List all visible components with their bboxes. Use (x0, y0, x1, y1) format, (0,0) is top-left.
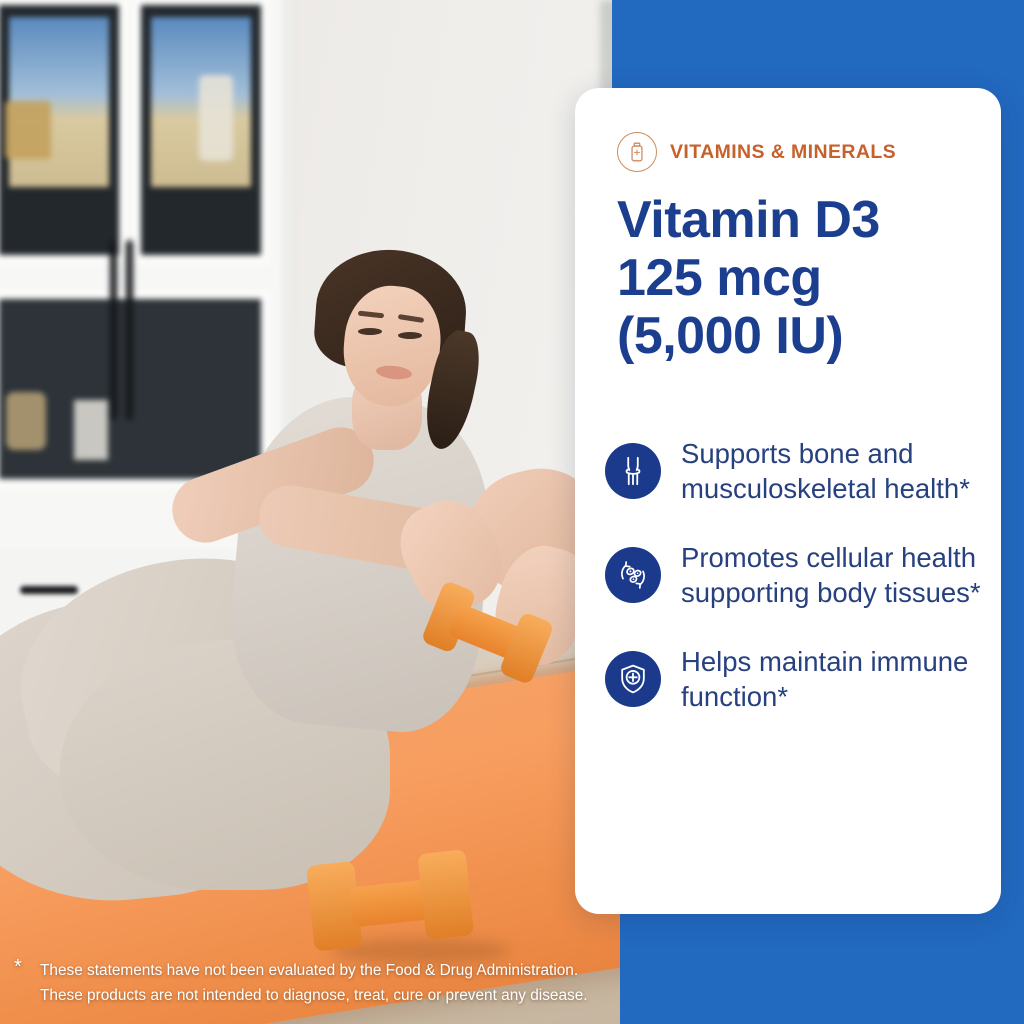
page-title: Vitamin D3 125 mcg (5,000 IU) (617, 191, 977, 365)
fda-disclaimer: * These statements have not been evaluat… (14, 958, 614, 1008)
benefits-list: Supports bone and musculoskeletal health… (605, 436, 985, 748)
disclaimer-asterisk: * (14, 955, 22, 980)
bone-joint-icon (605, 443, 661, 499)
benefit-item: Promotes cellular health supporting body… (605, 540, 985, 610)
benefit-item: Supports bone and musculoskeletal health… (605, 436, 985, 506)
disclaimer-line-1: These statements have not been evaluated… (40, 958, 614, 983)
cabinet-glass-right (132, 0, 270, 264)
drawer-pull (20, 586, 78, 594)
cell-renewal-icon (605, 547, 661, 603)
cabinet-handle (110, 240, 117, 420)
headline-line-1: Vitamin D3 (617, 191, 977, 249)
cabinet-handle (126, 240, 133, 420)
supplement-bottle-icon (617, 132, 657, 172)
cabinet-jar (5, 101, 51, 159)
cabinet-glass-left (0, 0, 128, 264)
headline-line-3: (5,000 IU) (617, 307, 977, 365)
disclaimer-line-2: These products are not intended to diagn… (40, 983, 614, 1008)
benefit-text: Promotes cellular health supporting body… (681, 540, 985, 610)
benefit-item: Helps maintain immune function* (605, 644, 985, 714)
benefit-text: Supports bone and musculoskeletal health… (681, 436, 985, 506)
benefit-text: Helps maintain immune function* (681, 644, 985, 714)
cabinet-candle (6, 392, 46, 450)
shield-cross-icon (605, 651, 661, 707)
cabinet-lower-shelf (0, 290, 270, 488)
headline-line-2: 125 mcg (617, 249, 977, 307)
product-info-card: VITAMINS & MINERALS Vitamin D3 125 mcg (… (575, 88, 1001, 914)
category-label: VITAMINS & MINERALS (670, 141, 896, 164)
category-eyebrow: VITAMINS & MINERALS (617, 132, 896, 172)
cabinet-vase (199, 75, 233, 161)
cabinet-book (74, 400, 108, 460)
product-marketing-image: VITAMINS & MINERALS Vitamin D3 125 mcg (… (0, 0, 1024, 1024)
